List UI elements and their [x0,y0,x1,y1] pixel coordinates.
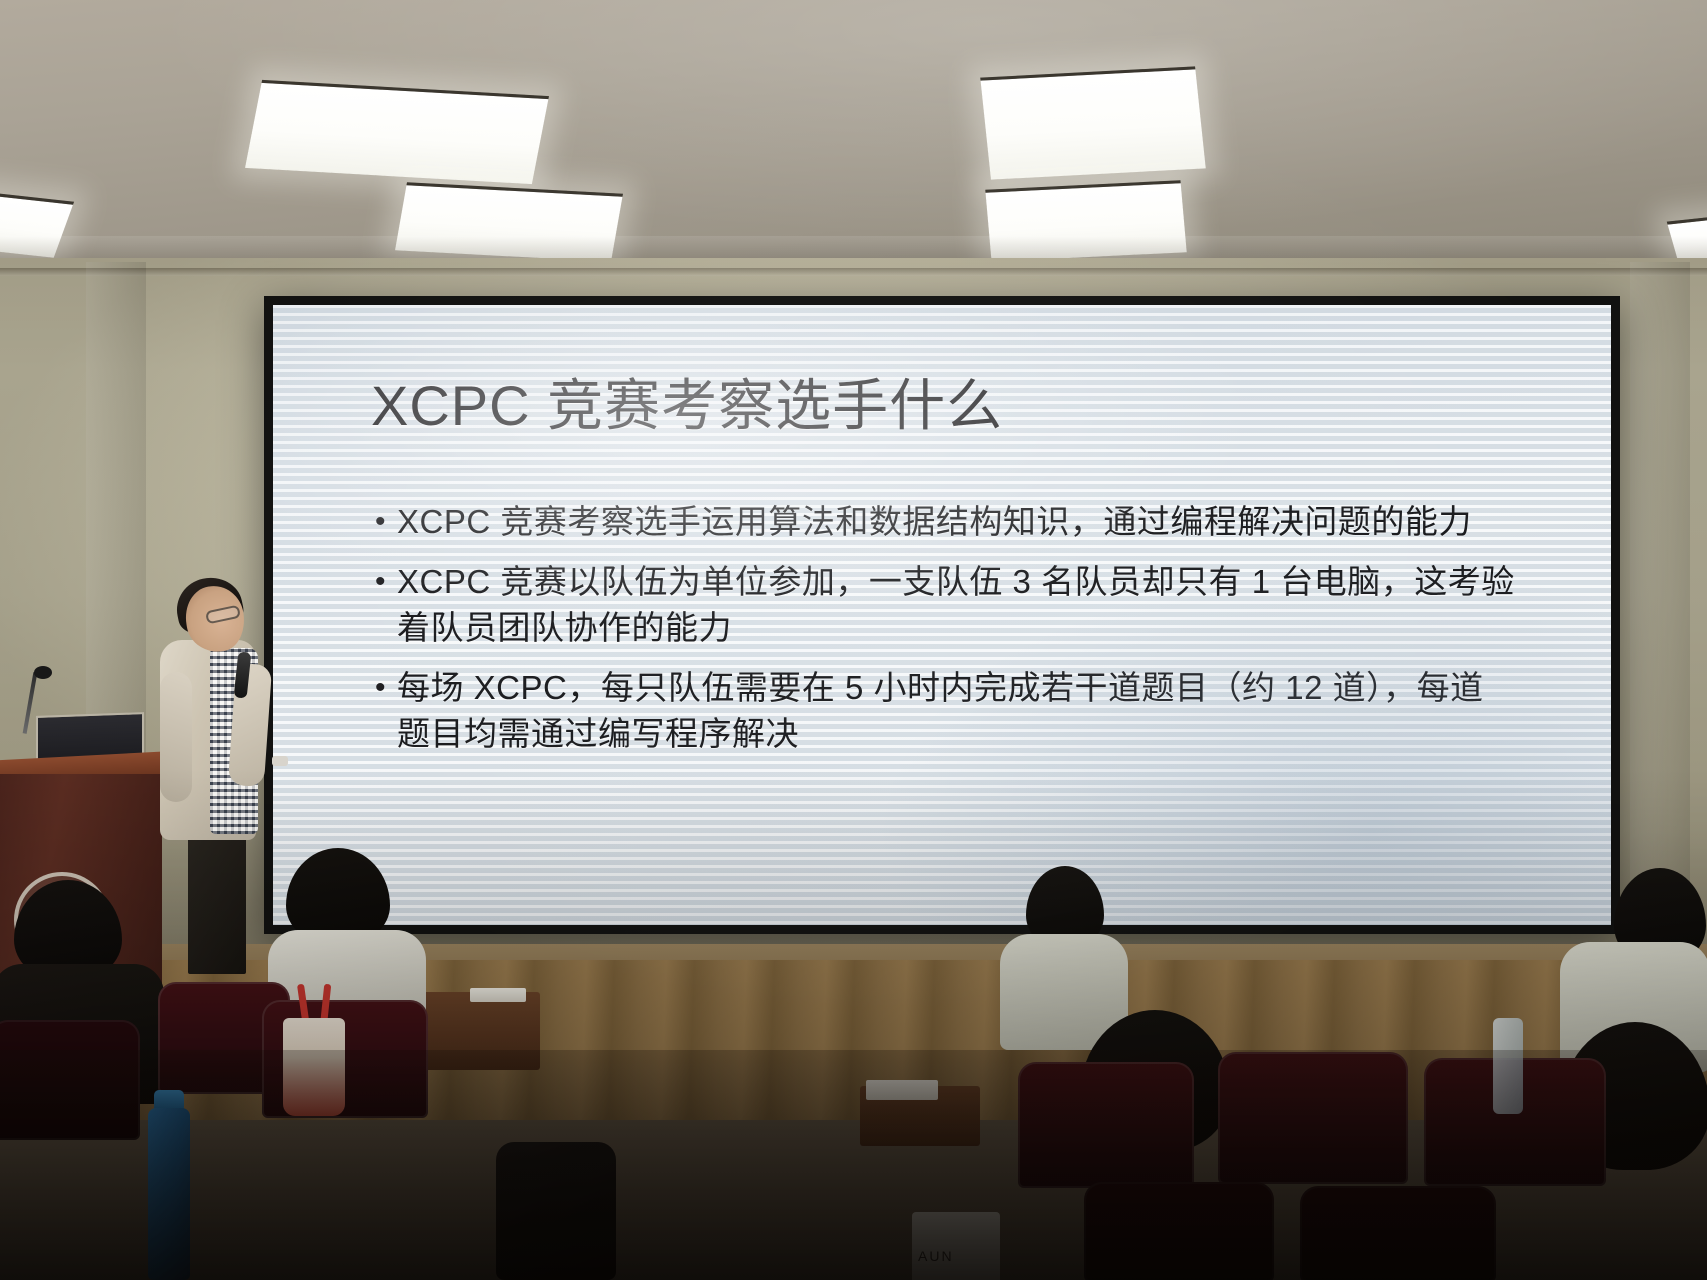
bullet-point-icon: • [375,499,397,545]
microphone-icon [34,666,52,679]
presenter-clicker [272,756,288,766]
slide-bullet-list: • XCPC 竞赛考察选手运用算法和数据结构知识，通过编程解决问题的能力 • X… [375,499,1555,757]
slide-bullet-item: • 每场 XCPC，每只队伍需要在 5 小时内完成若干道题目（约 12 道），每… [375,665,1555,757]
slide-bullet-item: • XCPC 竞赛考察选手运用算法和数据结构知识，通过编程解决问题的能力 [375,499,1555,545]
slide-bullet-text: XCPC 竞赛考察选手运用算法和数据结构知识，通过编程解决问题的能力 [397,499,1472,545]
bullet-point-icon: • [375,559,397,605]
ceiling-panel-light [245,80,549,184]
paper-sheet [470,988,526,1002]
lecture-hall-photo: XCPC 竞赛考察选手什么 • XCPC 竞赛考察选手运用算法和数据结构知识，通… [0,0,1707,1280]
slide-bullet-item: • XCPC 竞赛以队伍为单位参加，一支队伍 3 名队员却只有 1 台电脑，这考… [375,559,1555,651]
slide-bullet-text: XCPC 竞赛以队伍为单位参加，一支队伍 3 名队员却只有 1 台电脑，这考验着… [397,559,1517,651]
speaker-legs [188,822,246,974]
slide-bullet-text: 每场 XCPC，每只队伍需要在 5 小时内完成若干道题目（约 12 道），每道题… [397,665,1517,757]
slide-title: XCPC 竞赛考察选手什么 [371,375,1555,437]
speaker-left-arm [160,672,192,802]
presentation-slide: XCPC 竞赛考察选手什么 • XCPC 竞赛考察选手运用算法和数据结构知识，通… [273,305,1611,925]
ceiling-panel-light [980,66,1206,179]
bullet-point-icon: • [375,665,397,711]
foreground-shadow [0,1050,1707,1280]
screen-surface: XCPC 竞赛考察选手什么 • XCPC 竞赛考察选手运用算法和数据结构知识，通… [273,305,1611,925]
projection-screen: XCPC 竞赛考察选手什么 • XCPC 竞赛考察选手运用算法和数据结构知识，通… [264,296,1620,934]
